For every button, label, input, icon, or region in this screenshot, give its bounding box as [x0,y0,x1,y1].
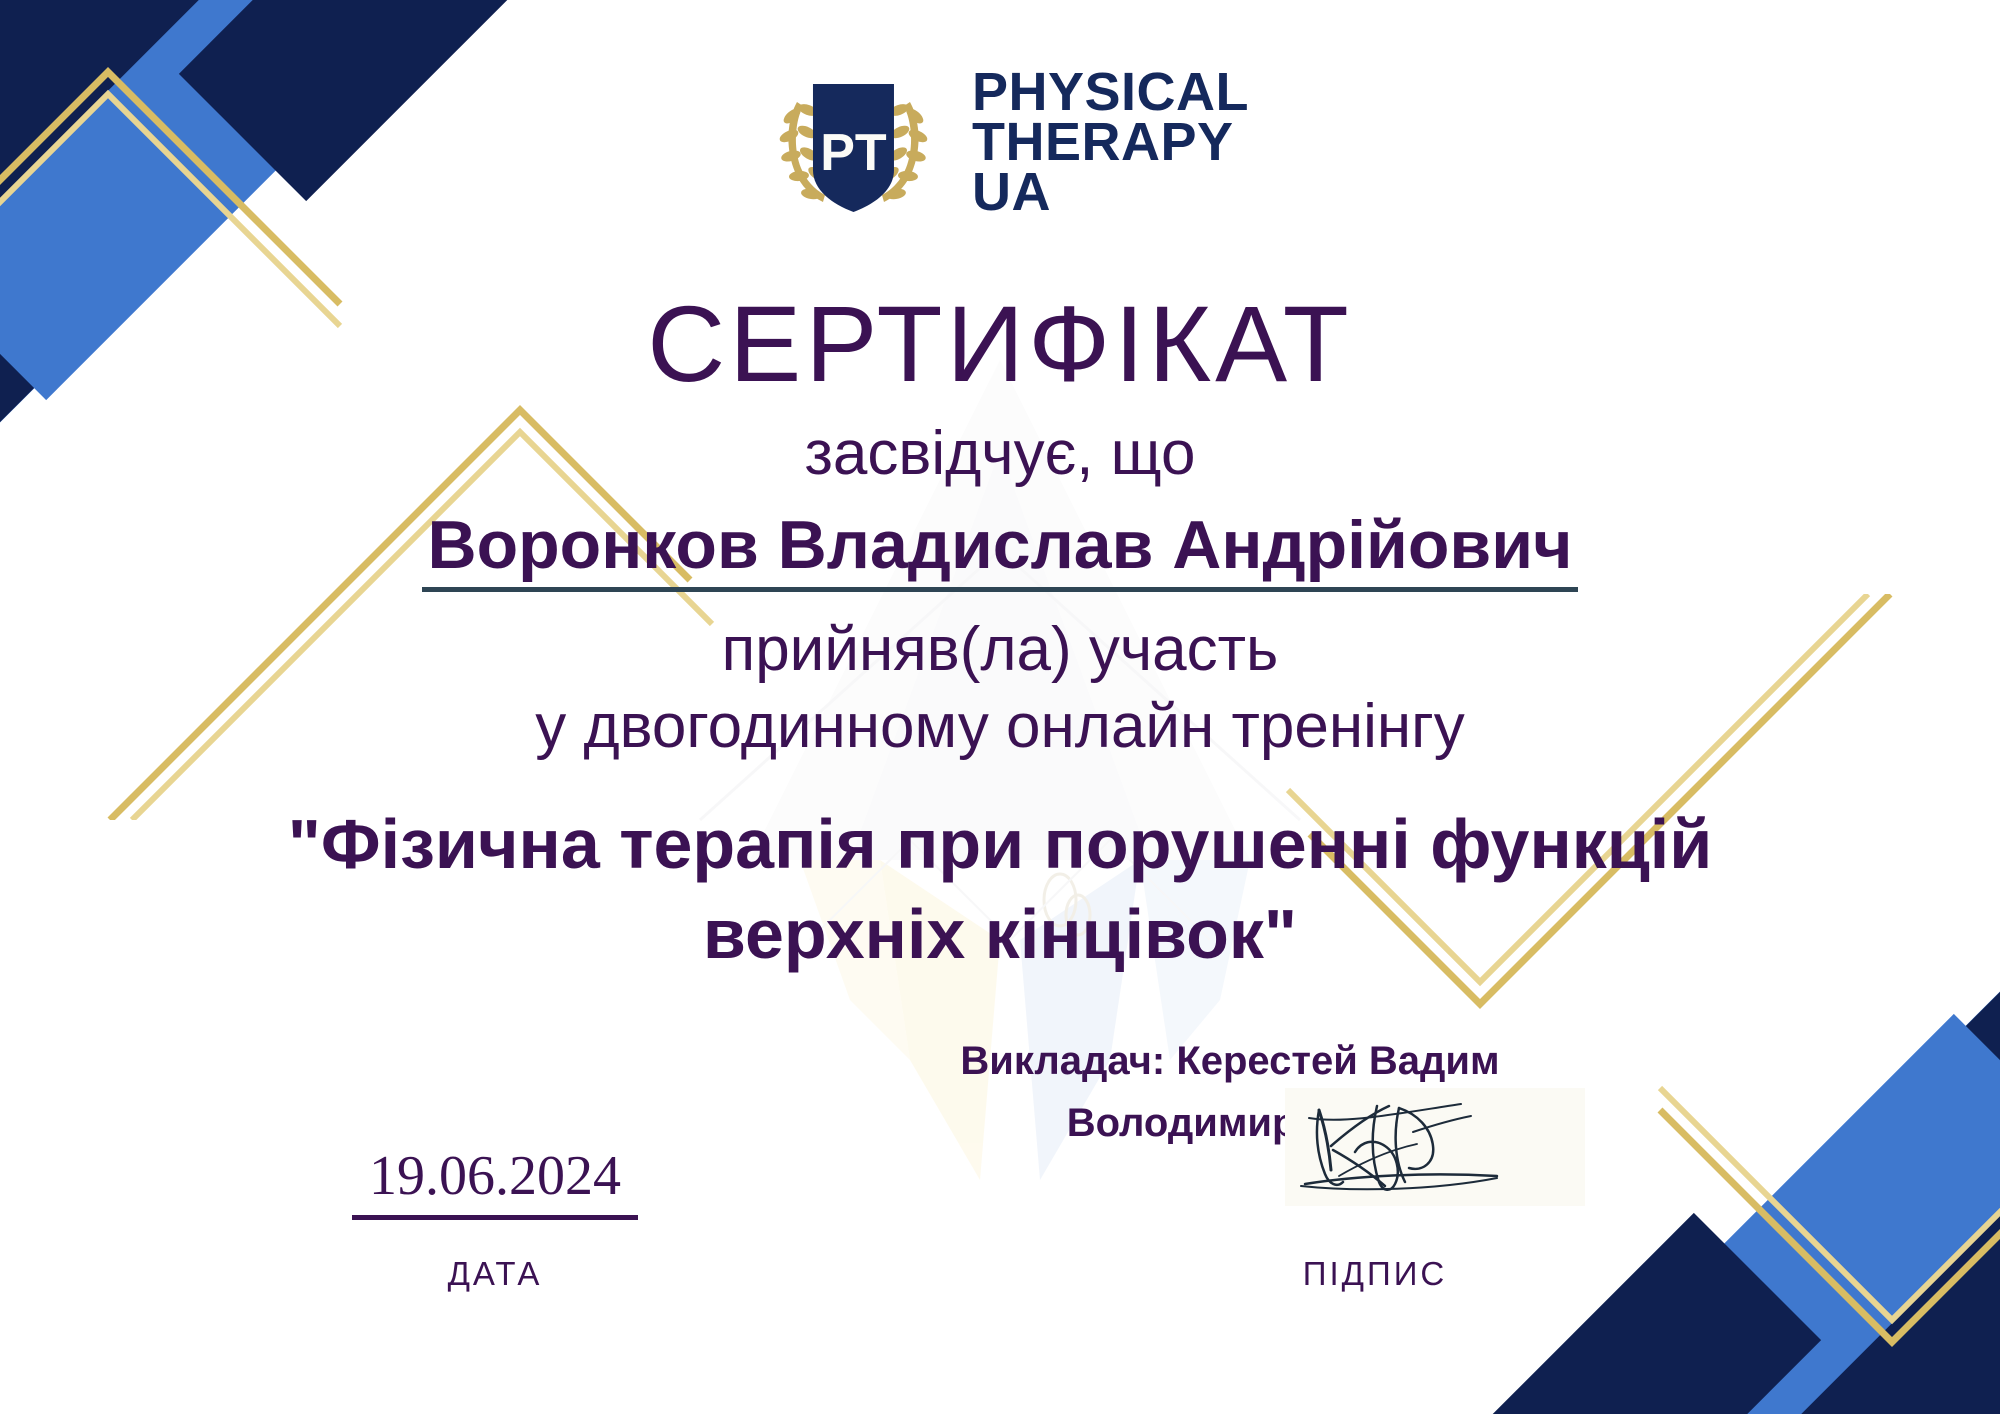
signature-image [1285,1088,1585,1206]
logo-line-2: THERAPY [972,117,1249,167]
recipient-row: Воронков Владислав Андрійович [0,510,2000,592]
brand-logo: PT PHYSICAL THERAPY UA [751,62,1249,222]
participation-line: прийняв(ла) участь [0,610,2000,689]
recipient-name: Воронков Владислав Андрійович [422,510,1579,592]
date-rule [352,1215,638,1220]
training-description-line: у двогодинному онлайн тренінгу [0,687,2000,766]
course-title: "Фізична терапія при порушенні функцій в… [150,800,1850,979]
page-title: СЕРТИФІКАТ [0,290,2000,398]
issue-date: 19.06.2024 [350,1148,640,1204]
logo-badge-text: PT [820,124,887,182]
date-label: ДАТА [350,1255,640,1293]
logo-wordmark: PHYSICAL THERAPY UA [972,67,1249,218]
logo-line-3: UA [972,167,1249,217]
signature-label: ПІДПИС [1230,1255,1520,1293]
certificate-page: PT PHYSICAL THERAPY UA СЕРТИФІКАТ засвід… [0,0,2000,1414]
certificate-subtitle: засвідчує, що [0,423,2000,485]
logo-shield-mark: PT [751,62,956,222]
logo-line-1: PHYSICAL [972,67,1249,117]
